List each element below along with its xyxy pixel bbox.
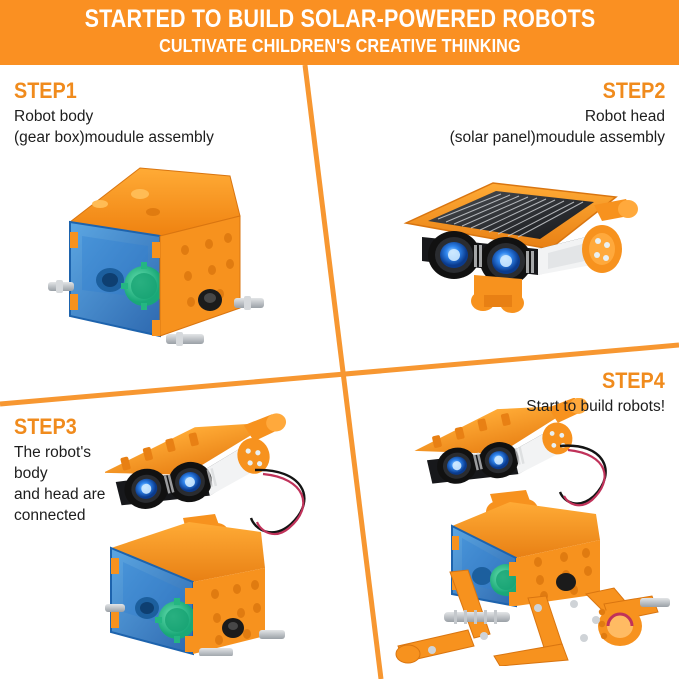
step3-text-block: STEP3 The robot's body and head are conn… xyxy=(14,416,105,527)
step2-label: STEP2 xyxy=(471,80,665,102)
step1-description-line-2: (gear box)moudule assembly xyxy=(14,128,214,149)
solar-head-module-illustration xyxy=(388,175,643,320)
head-body-connected-photo xyxy=(105,408,335,656)
step2-description-line-2: (solar panel)moudule assembly xyxy=(450,128,665,149)
step2-description-line-1: Robot head xyxy=(450,107,665,128)
page-subtitle: CULTIVATE CHILDREN'S CREATIVE THINKING xyxy=(159,35,521,58)
step1-text-block: STEP1 Robot body (gear box)moudule assem… xyxy=(14,80,214,149)
step1-label: STEP1 xyxy=(14,80,194,102)
step4-description-line-1: Start to build robots! xyxy=(526,397,665,418)
step4-label: STEP4 xyxy=(540,370,665,392)
step1-description-line-1: Robot body xyxy=(14,107,214,128)
step2-text-block: STEP2 Robot head (solar panel)moudule as… xyxy=(450,80,665,149)
header-banner: STARTED TO BUILD SOLAR-POWERED ROBOTS CU… xyxy=(0,0,679,65)
gear-box-module-illustration xyxy=(48,158,288,363)
step3-description-line-3: and head are xyxy=(14,485,105,506)
step4-text-block: STEP4 Start to build robots! xyxy=(526,370,665,418)
head-body-connected-illustration xyxy=(105,408,335,656)
finished-robot-illustration xyxy=(388,398,673,666)
step3-label: STEP3 xyxy=(14,416,96,438)
step3-description-line-4: connected xyxy=(14,506,105,527)
page-title: STARTED TO BUILD SOLAR-POWERED ROBOTS xyxy=(84,7,595,32)
step3-description-line-1: The robot's xyxy=(14,443,105,464)
solar-head-module-photo xyxy=(388,175,643,320)
gear-box-module-photo xyxy=(48,158,288,363)
finished-robot-photo xyxy=(388,398,673,666)
step3-description-line-2: body xyxy=(14,464,105,485)
